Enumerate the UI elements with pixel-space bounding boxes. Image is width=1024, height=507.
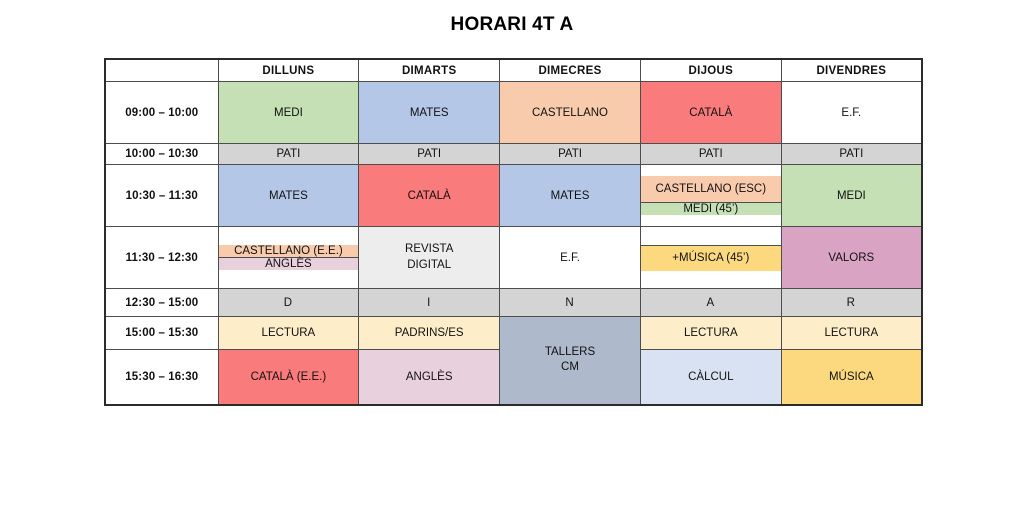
cell-dimecres-pati: PATI	[500, 144, 641, 165]
day-header-dimecres: DIMECRES	[500, 59, 641, 82]
cell-dimecres-0900: CASTELLANO	[500, 82, 641, 144]
cell-dijous-medi-45: MEDI (45’)	[641, 202, 781, 215]
cell-dilluns-1500: LECTURA	[218, 317, 359, 350]
table-row-1030: 10:30 – 11:30 MATES CATALÀ MATES CASTELL…	[105, 165, 922, 227]
cell-dilluns-1030: MATES	[218, 165, 359, 227]
cell-dinar-n: N	[500, 289, 641, 317]
cell-dilluns-angles: ANGLÈS	[219, 257, 359, 270]
cell-dimarts-1500: PADRINS/ES	[359, 317, 500, 350]
cell-dijous-1130-split: +MÚSICA (45’)	[640, 227, 781, 289]
table-row-dinar: 12:30 – 15:00 D I N A R	[105, 289, 922, 317]
cell-divendres-1030: MEDI	[781, 165, 922, 227]
cell-dijous-1500: LECTURA	[640, 317, 781, 350]
time-label-1130: 11:30 – 12:30	[105, 227, 218, 289]
cell-dimarts-1130: REVISTA DIGITAL	[359, 227, 500, 289]
day-header-divendres: DIVENDRES	[781, 59, 922, 82]
cell-dijous-musica-45: +MÚSICA (45’)	[641, 245, 781, 271]
cell-dilluns-1530: CATALÀ (E.E.)	[218, 350, 359, 405]
time-label-1030: 10:30 – 11:30	[105, 165, 218, 227]
cell-dilluns-0900: MEDI	[218, 82, 359, 144]
time-label-1230: 12:30 – 15:00	[105, 289, 218, 317]
schedule-table: DILLUNS DIMARTS DIMECRES DIJOUS DIVENDRE…	[104, 58, 923, 406]
cell-dinar-d: D	[218, 289, 359, 317]
cell-dimecres-1130: E.F.	[500, 227, 641, 289]
schedule-page: HORARI 4T A DILLUNS DIMARTS DIMECRES DIJ…	[0, 0, 1024, 507]
cell-divendres-1130: VALORS	[781, 227, 922, 289]
cell-dinar-a: A	[640, 289, 781, 317]
cell-dijous-0900: CATALÀ	[640, 82, 781, 144]
day-header-dilluns: DILLUNS	[218, 59, 359, 82]
cell-dimarts-1530: ANGLÈS	[359, 350, 500, 405]
cell-dinar-i: I	[359, 289, 500, 317]
cell-dimarts-0900: MATES	[359, 82, 500, 144]
cell-dimecres-tallers-line1: TALLERS	[500, 345, 640, 361]
table-row-1500: 15:00 – 15:30 LECTURA PADRINS/ES TALLERS…	[105, 317, 922, 350]
table-corner-cell	[105, 59, 218, 82]
cell-dimecres-1030: MATES	[500, 165, 641, 227]
table-row-1130: 11:30 – 12:30 CASTELLANO (E.E.) ANGLÈS R…	[105, 227, 922, 289]
table-row-pati: 10:00 – 10:30 PATI PATI PATI PATI PATI	[105, 144, 922, 165]
day-header-dijous: DIJOUS	[640, 59, 781, 82]
cell-divendres-0900: E.F.	[781, 82, 922, 144]
cell-dijous-1530: CÀLCUL	[640, 350, 781, 405]
cell-dijous-1030-split: CASTELLANO (ESC) MEDI (45’)	[640, 165, 781, 227]
time-label-1000: 10:00 – 10:30	[105, 144, 218, 165]
time-label-0900: 09:00 – 10:00	[105, 82, 218, 144]
cell-dijous-castellano-esc: CASTELLANO (ESC)	[641, 176, 781, 202]
cell-dilluns-pati: PATI	[218, 144, 359, 165]
cell-dimecres-tallers-line2: CM	[500, 360, 640, 376]
cell-dijous-pati: PATI	[640, 144, 781, 165]
cell-dimarts-1130-line2: DIGITAL	[359, 258, 499, 274]
page-title: HORARI 4T A	[0, 14, 1024, 36]
table-header-row: DILLUNS DIMARTS DIMECRES DIJOUS DIVENDRE…	[105, 59, 922, 82]
time-label-1500: 15:00 – 15:30	[105, 317, 218, 350]
cell-dimarts-1030: CATALÀ	[359, 165, 500, 227]
time-label-1530: 15:30 – 16:30	[105, 350, 218, 405]
table-row-0900: 09:00 – 10:00 MEDI MATES CASTELLANO CATA…	[105, 82, 922, 144]
cell-dimarts-1130-line1: REVISTA	[359, 242, 499, 258]
cell-dimarts-pati: PATI	[359, 144, 500, 165]
cell-dinar-r: R	[781, 289, 922, 317]
day-header-dimarts: DIMARTS	[359, 59, 500, 82]
cell-divendres-1500: LECTURA	[781, 317, 922, 350]
cell-dilluns-1130-split: CASTELLANO (E.E.) ANGLÈS	[218, 227, 359, 289]
cell-divendres-1530: MÚSICA	[781, 350, 922, 405]
cell-dimecres-tallers: TALLERS CM	[500, 317, 641, 405]
cell-dilluns-castellano-ee: CASTELLANO (E.E.)	[219, 245, 359, 257]
cell-divendres-pati: PATI	[781, 144, 922, 165]
